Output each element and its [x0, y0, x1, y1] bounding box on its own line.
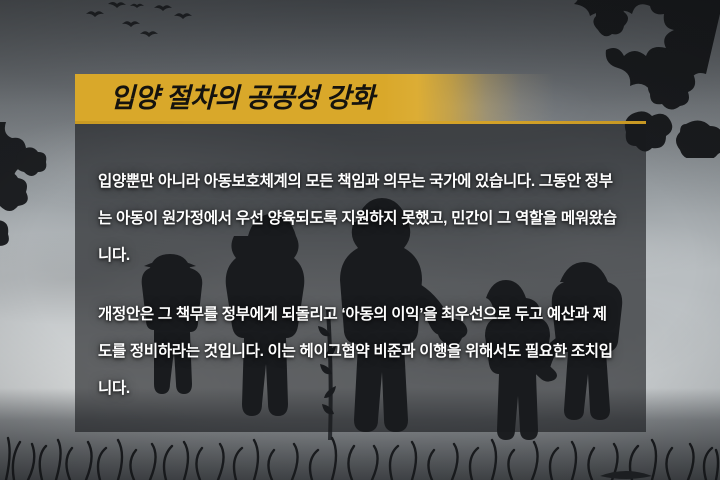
paragraph-2: 개정안은 그 책무를 정부에게 되돌리고 ‘아동의 이익’을 최우선으로 두고 …	[98, 296, 618, 407]
title-banner-underline	[75, 121, 646, 124]
page-title: 입양 절차의 공공성 강화	[110, 79, 374, 117]
slide-canvas: 입양 절차의 공공성 강화 입양뿐만 아니라 아동보호체계의 모든 책임과 의무…	[0, 0, 720, 480]
paragraph-1: 입양뿐만 아니라 아동보호체계의 모든 책임과 의무는 국가에 있습니다. 그동…	[98, 163, 618, 274]
body-text: 입양뿐만 아니라 아동보호체계의 모든 책임과 의무는 국가에 있습니다. 그동…	[98, 163, 618, 407]
